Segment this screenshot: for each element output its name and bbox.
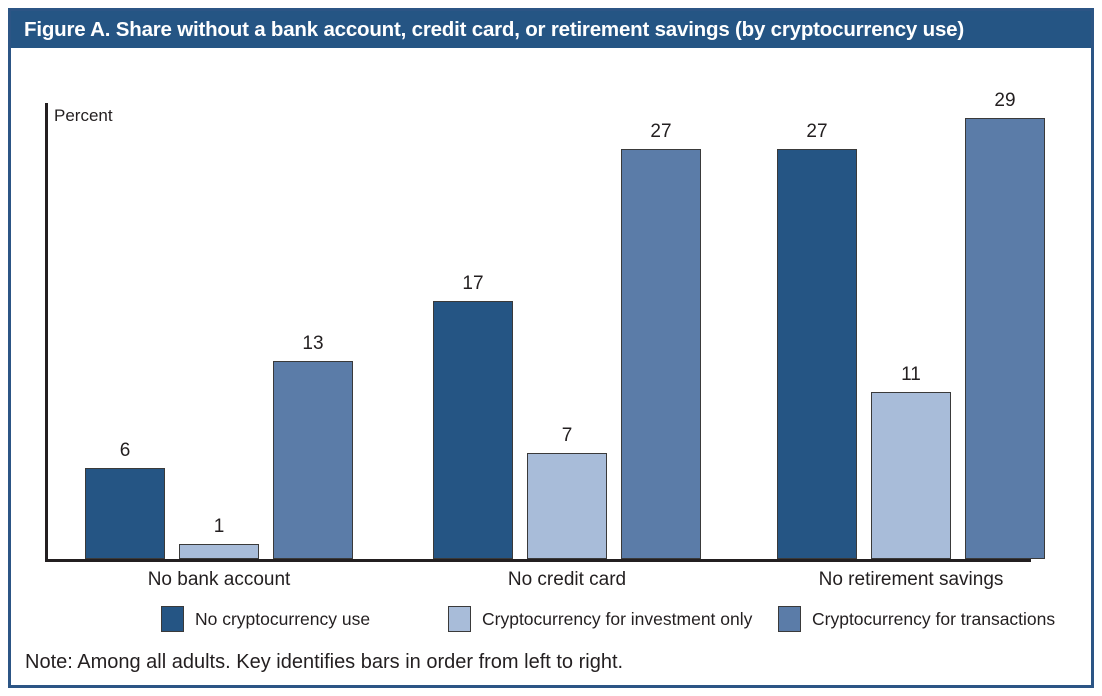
bar-value-label: 27: [650, 121, 671, 143]
category-label: No credit card: [508, 569, 626, 591]
bar: [965, 118, 1045, 559]
figure-note: Note: Among all adults. Key identifies b…: [25, 651, 623, 674]
bar: [433, 301, 513, 559]
legend-label: Cryptocurrency for transactions: [812, 609, 1055, 630]
bar-value-label: 1: [214, 516, 225, 538]
legend-item[interactable]: Cryptocurrency for transactions: [778, 604, 1055, 634]
figure-panel: Figure A. Share without a bank account, …: [8, 8, 1094, 688]
chart-legend: No cryptocurrency useCryptocurrency for …: [11, 604, 1091, 640]
bar-value-label: 7: [562, 425, 573, 447]
category-label: No bank account: [148, 569, 291, 591]
bar: [621, 149, 701, 559]
legend-swatch-icon: [778, 606, 801, 632]
x-axis-line: [45, 559, 1031, 562]
category-label: No retirement savings: [819, 569, 1004, 591]
bar-value-label: 11: [901, 364, 921, 386]
legend-item[interactable]: Cryptocurrency for investment only: [448, 604, 752, 634]
legend-swatch-icon: [161, 606, 184, 632]
bars-layer: [11, 48, 1091, 559]
bar-value-label: 29: [994, 90, 1015, 112]
bar: [527, 453, 607, 559]
legend-label: Cryptocurrency for investment only: [482, 609, 752, 630]
figure-title-bar: Figure A. Share without a bank account, …: [11, 11, 1091, 48]
bar: [85, 468, 165, 559]
bar: [777, 149, 857, 559]
bar-value-label: 13: [302, 333, 323, 355]
chart-plot-area: Percent No bank accountNo credit cardNo …: [11, 48, 1091, 688]
bar-value-label: 17: [462, 273, 483, 295]
legend-label: No cryptocurrency use: [195, 609, 370, 630]
legend-swatch-icon: [448, 606, 471, 632]
page-title: Figure A. Share without a bank account, …: [11, 18, 964, 42]
bar-value-label: 27: [806, 121, 827, 143]
bar: [179, 544, 259, 559]
bar-value-label: 6: [120, 440, 131, 462]
legend-item[interactable]: No cryptocurrency use: [161, 604, 370, 634]
bar: [273, 361, 353, 559]
bar: [871, 392, 951, 559]
